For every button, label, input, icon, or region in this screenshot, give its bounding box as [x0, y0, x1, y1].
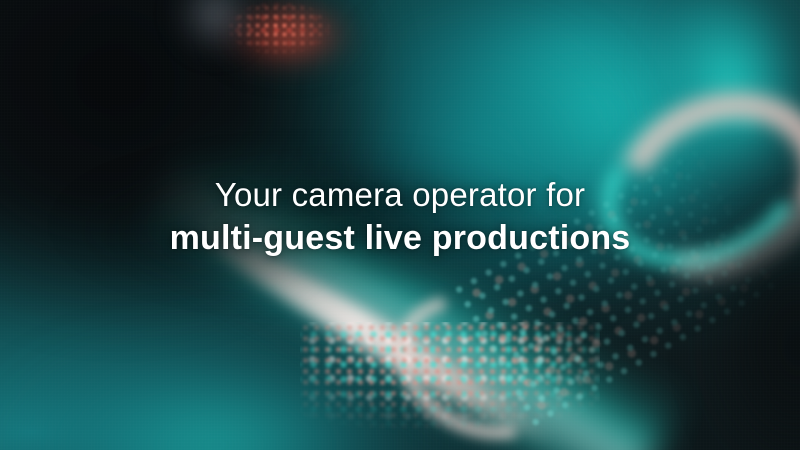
grey-smudge — [172, 0, 258, 58]
headline: Your camera operator for multi-guest liv… — [0, 176, 800, 258]
headline-line-1: Your camera operator for — [0, 176, 800, 215]
headline-line-2: multi-guest live productions — [0, 218, 800, 258]
hero-banner: Your camera operator for multi-guest liv… — [0, 0, 800, 450]
